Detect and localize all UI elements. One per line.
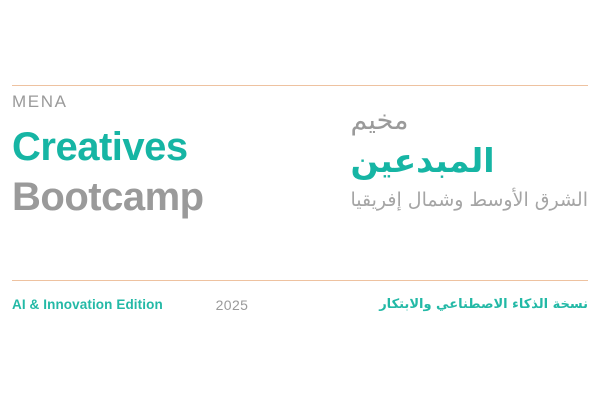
title-band: MENA Creatives Bootcamp مخيم المبدعين ال…	[12, 86, 588, 274]
headline-secondary: Bootcamp	[12, 174, 204, 220]
title-card: MENA Creatives Bootcamp مخيم المبدعين ال…	[0, 0, 600, 400]
region-eyebrow-label: MENA	[12, 91, 68, 112]
bottom-divider	[12, 280, 588, 281]
footer-band: AI & Innovation Edition 2025 نسخة الذكاء…	[12, 294, 588, 316]
edition-label-arabic: نسخة الذكاء الاصطناعي والابتكار	[379, 295, 588, 315]
arabic-eyebrow-label: مخيم	[350, 104, 408, 138]
headline-primary: Creatives	[12, 124, 188, 170]
edition-label-latin: AI & Innovation Edition	[12, 295, 163, 315]
latin-title-group: MENA Creatives Bootcamp	[12, 86, 204, 220]
arabic-subtitle: الشرق الأوسط وشمال إفريقيا	[350, 187, 588, 214]
year-label: 2025	[163, 295, 379, 315]
arabic-headline: المبدعين	[350, 140, 494, 182]
arabic-title-group: مخيم المبدعين الشرق الأوسط وشمال إفريقيا	[350, 86, 588, 214]
